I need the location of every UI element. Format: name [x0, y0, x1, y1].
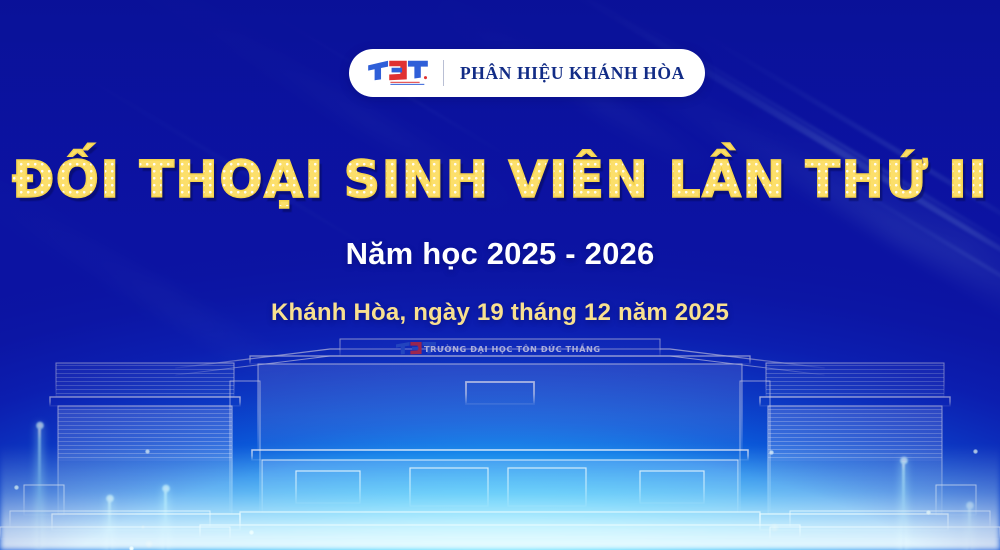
light-spark [926, 510, 931, 515]
light-beam [968, 505, 971, 550]
event-dateline: Khánh Hòa, ngày 19 tháng 12 năm 2025 [0, 299, 1000, 327]
academic-year: Năm học 2025 - 2026 [0, 236, 1000, 272]
light-spark [145, 540, 153, 548]
tdt-logo [367, 58, 429, 88]
campus-logo-pill: PHÂN HIỆU KHÁNH HÒA [349, 49, 705, 97]
light-beam [164, 488, 167, 550]
light-beam [108, 498, 111, 550]
building-sign-text: TRƯỜNG ĐẠI HỌC TÔN ĐỨC THẮNG [424, 342, 601, 354]
pill-divider [443, 60, 444, 86]
event-title-bulbs: ĐỐI THOẠI SINH VIÊN LẦN THỨ II [12, 155, 989, 206]
building-sign [396, 342, 436, 354]
light-spark [973, 449, 978, 454]
light-beam [38, 425, 41, 547]
campus-label: PHÂN HIỆU KHÁNH HÒA [460, 63, 685, 84]
light-spark [14, 485, 19, 490]
light-ray [558, 0, 1000, 254]
light-ray [619, 10, 1000, 255]
light-spark [145, 449, 150, 454]
campus-building-illustration: TRƯỜNG ĐẠI HỌC TÔN ĐỨC THẮNG [0, 335, 1000, 550]
light-spark [769, 450, 774, 455]
headline-block: ĐỐI THOẠI SINH VIÊN LẦN THỨ II ĐỐI THOẠI… [0, 155, 1000, 206]
light-beam [902, 460, 905, 550]
light-spark [770, 523, 779, 532]
light-spark [129, 546, 134, 550]
light-spark [249, 530, 254, 535]
banner-stage: TRƯỜNG ĐẠI HỌC TÔN ĐỨC THẮNG PHÂN HIỆU K… [0, 0, 1000, 550]
light-spark [141, 525, 145, 529]
event-title: ĐỐI THOẠI SINH VIÊN LẦN THỨ II ĐỐI THOẠI… [12, 155, 989, 206]
ground-glow [0, 445, 1000, 550]
